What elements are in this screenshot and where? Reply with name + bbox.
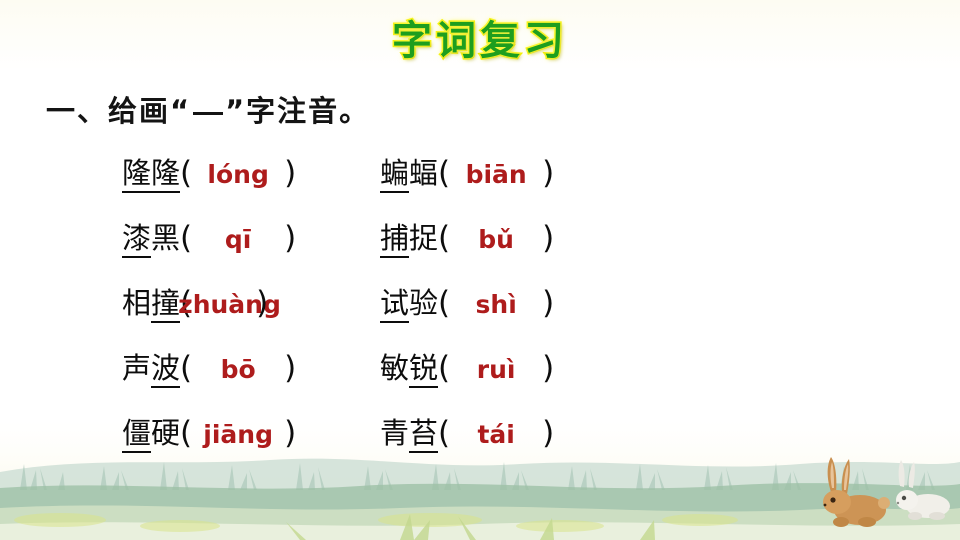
word-char-1: 隆 xyxy=(122,156,151,193)
instruction-line: 一、给画“”字注音。 xyxy=(46,88,370,130)
paren-open: ( xyxy=(438,285,450,321)
vocabulary-row: 隆隆(lóng)蝙蝠(biān) xyxy=(0,150,960,215)
paren-close: ) xyxy=(542,155,554,191)
pinyin-answer: bō xyxy=(192,355,284,384)
quote-close: ” xyxy=(225,94,246,128)
word-entry: 蝙蝠(biān) xyxy=(340,150,760,192)
word-characters: 蝙蝠 xyxy=(380,150,438,192)
pinyin-answer: ruì xyxy=(450,355,542,384)
paren-close: ) xyxy=(542,285,554,321)
pinyin-answer: jiāng xyxy=(192,420,284,449)
pinyin-answer: biān xyxy=(450,160,542,189)
paren-open: ( xyxy=(438,220,450,256)
word-char-1: 声 xyxy=(122,351,151,385)
word-char-1: 僵 xyxy=(122,416,151,453)
underline-mark-icon xyxy=(193,112,223,115)
paren-close: ) xyxy=(284,155,296,191)
word-entry: 声波(bō) xyxy=(0,345,340,387)
word-char-1: 捕 xyxy=(380,221,409,258)
paren-close: ) xyxy=(256,285,268,321)
word-char-2: 蝠 xyxy=(409,156,438,190)
word-characters: 敏锐 xyxy=(380,345,438,387)
word-entry: 试验(shì) xyxy=(340,280,760,322)
paren-open: ( xyxy=(180,155,192,191)
word-char-1: 试 xyxy=(380,286,409,323)
word-char-2: 波 xyxy=(151,351,180,388)
word-char-1: 蝙 xyxy=(380,156,409,193)
word-entry: 捕捉(bǔ) xyxy=(340,215,760,257)
word-characters: 漆黑 xyxy=(122,215,180,257)
pinyin-answer: qī xyxy=(192,225,284,254)
pinyin-answer: bǔ xyxy=(450,225,542,254)
word-entry: 青苔(tái) xyxy=(340,410,760,452)
word-char-1: 相 xyxy=(122,286,151,320)
word-char-1: 敏 xyxy=(380,351,409,385)
word-char-1: 青 xyxy=(380,416,409,450)
word-char-1: 漆 xyxy=(122,221,151,258)
slide-canvas: 字词复习 一、给画“”字注音。 隆隆(lóng)蝙蝠(biān)漆黑(qī)捕捉… xyxy=(0,0,960,540)
word-characters: 僵硬 xyxy=(122,410,180,452)
word-characters: 捕捉 xyxy=(380,215,438,257)
vocabulary-grid: 隆隆(lóng)蝙蝠(biān)漆黑(qī)捕捉(bǔ)相撞(zhuàng)试验… xyxy=(0,150,960,475)
word-entry: 相撞(zhuàng) xyxy=(0,280,340,322)
paren-close: ) xyxy=(284,220,296,256)
pinyin-answer: lóng xyxy=(192,160,284,189)
paren-open: ( xyxy=(180,220,192,256)
vocabulary-row: 声波(bō)敏锐(ruì) xyxy=(0,345,960,410)
word-entry: 僵硬(jiāng) xyxy=(0,410,340,452)
paren-open: ( xyxy=(438,350,450,386)
paren-close: ) xyxy=(542,220,554,256)
word-char-2: 隆 xyxy=(151,156,180,193)
word-char-2: 验 xyxy=(409,286,438,320)
slide-title-container: 字词复习 xyxy=(0,8,960,66)
paren-close: ) xyxy=(542,350,554,386)
word-char-2: 苔 xyxy=(409,416,438,453)
page-title: 字词复习 xyxy=(392,8,568,66)
pinyin-answer: shì xyxy=(450,290,542,319)
paren-open: ( xyxy=(438,155,450,191)
vocabulary-row: 相撞(zhuàng)试验(shì) xyxy=(0,280,960,345)
word-characters: 隆隆 xyxy=(122,150,180,192)
paren-close: ) xyxy=(284,415,296,451)
paren-close: ) xyxy=(542,415,554,451)
paren-open: ( xyxy=(180,350,192,386)
instruction-suffix: 字注音。 xyxy=(246,94,370,128)
word-characters: 相撞 xyxy=(122,280,180,322)
word-char-2: 撞 xyxy=(151,286,180,323)
paren-open: ( xyxy=(180,415,192,451)
word-characters: 声波 xyxy=(122,345,180,387)
vocabulary-row: 漆黑(qī)捕捉(bǔ) xyxy=(0,215,960,280)
paren-open: ( xyxy=(438,415,450,451)
word-entry: 敏锐(ruì) xyxy=(340,345,760,387)
quote-open: “ xyxy=(170,94,191,128)
word-char-2: 硬 xyxy=(151,416,180,450)
instruction-prefix: 一、给画 xyxy=(46,94,170,128)
word-char-2: 锐 xyxy=(409,351,438,388)
pinyin-answer: tái xyxy=(450,420,542,449)
paren-close: ) xyxy=(284,350,296,386)
word-characters: 青苔 xyxy=(380,410,438,452)
word-char-2: 捉 xyxy=(409,221,438,255)
word-characters: 试验 xyxy=(380,280,438,322)
word-entry: 隆隆(lóng) xyxy=(0,150,340,192)
word-entry: 漆黑(qī) xyxy=(0,215,340,257)
word-char-2: 黑 xyxy=(151,221,180,255)
vocabulary-row: 僵硬(jiāng)青苔(tái) xyxy=(0,410,960,475)
